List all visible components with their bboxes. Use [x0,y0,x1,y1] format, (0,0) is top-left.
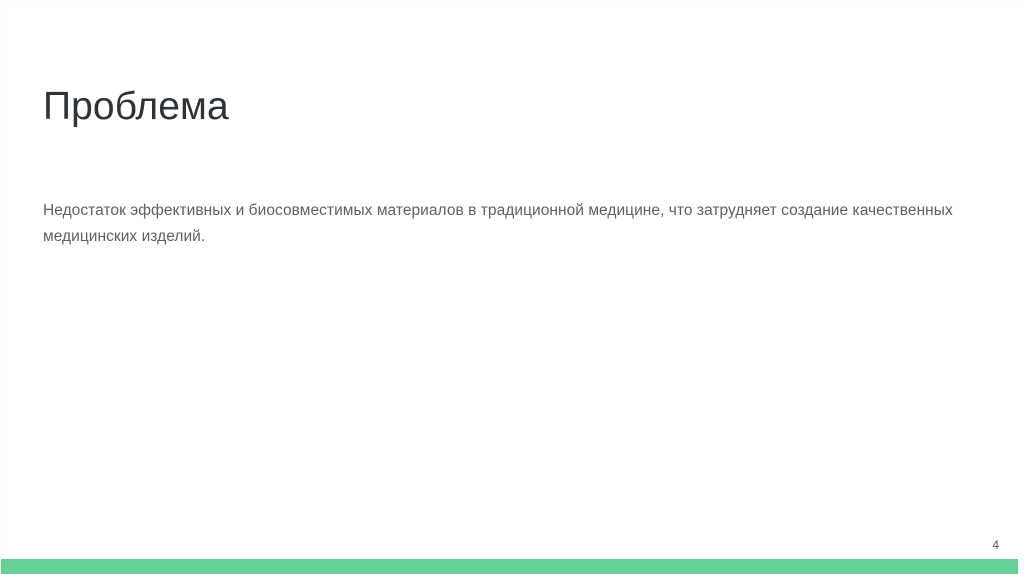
page-title: Проблема [43,84,229,130]
page-number: 4 [992,538,999,552]
slide-body-text: Недостаток эффективных и биосовместимых … [43,198,983,250]
slide: Проблема Недостаток эффективных и биосов… [0,0,1024,574]
footer-accent-bar [1,559,1018,574]
